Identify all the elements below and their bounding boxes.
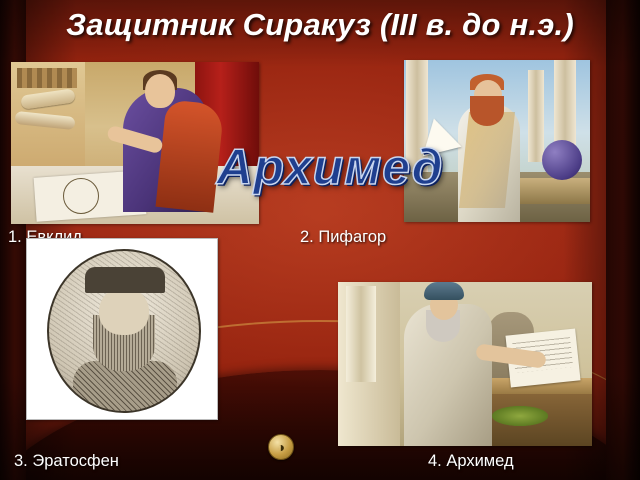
eratosthenes-oval-frame	[47, 249, 201, 413]
wordart-archimedes: Архимед	[180, 138, 480, 196]
eratosthenes-face	[99, 287, 149, 335]
euclid-scene-shelf	[17, 68, 77, 88]
presentation-slide: Защитник Сиракуз (III в. до н.э.) Архим	[0, 0, 640, 480]
caption-pythagoras: 2. Пифагор	[300, 228, 386, 247]
pythagoras-table	[520, 178, 590, 204]
slide-title: Защитник Сиракуз (III в. до н.э.)	[40, 8, 600, 43]
caption-eratosthenes: 3. Эратосфен	[14, 452, 119, 471]
caption-archimedes: 4. Архимед	[428, 452, 514, 471]
euclid-scene-figure-head	[145, 74, 175, 108]
compass-circle-icon	[63, 178, 99, 214]
image-eratosthenes	[26, 238, 218, 420]
column-icon	[346, 286, 376, 382]
half-circle-icon: ◑	[277, 440, 285, 454]
eratosthenes-hat	[85, 267, 165, 293]
pythagoras-beard	[470, 96, 504, 126]
column-icon	[528, 70, 544, 162]
archimedes-turban	[424, 282, 464, 300]
archimedes-foliage	[492, 406, 548, 426]
globe-icon	[542, 140, 582, 180]
slide-navigation-button[interactable]: ◑	[268, 434, 294, 460]
image-archimedes	[338, 282, 592, 446]
